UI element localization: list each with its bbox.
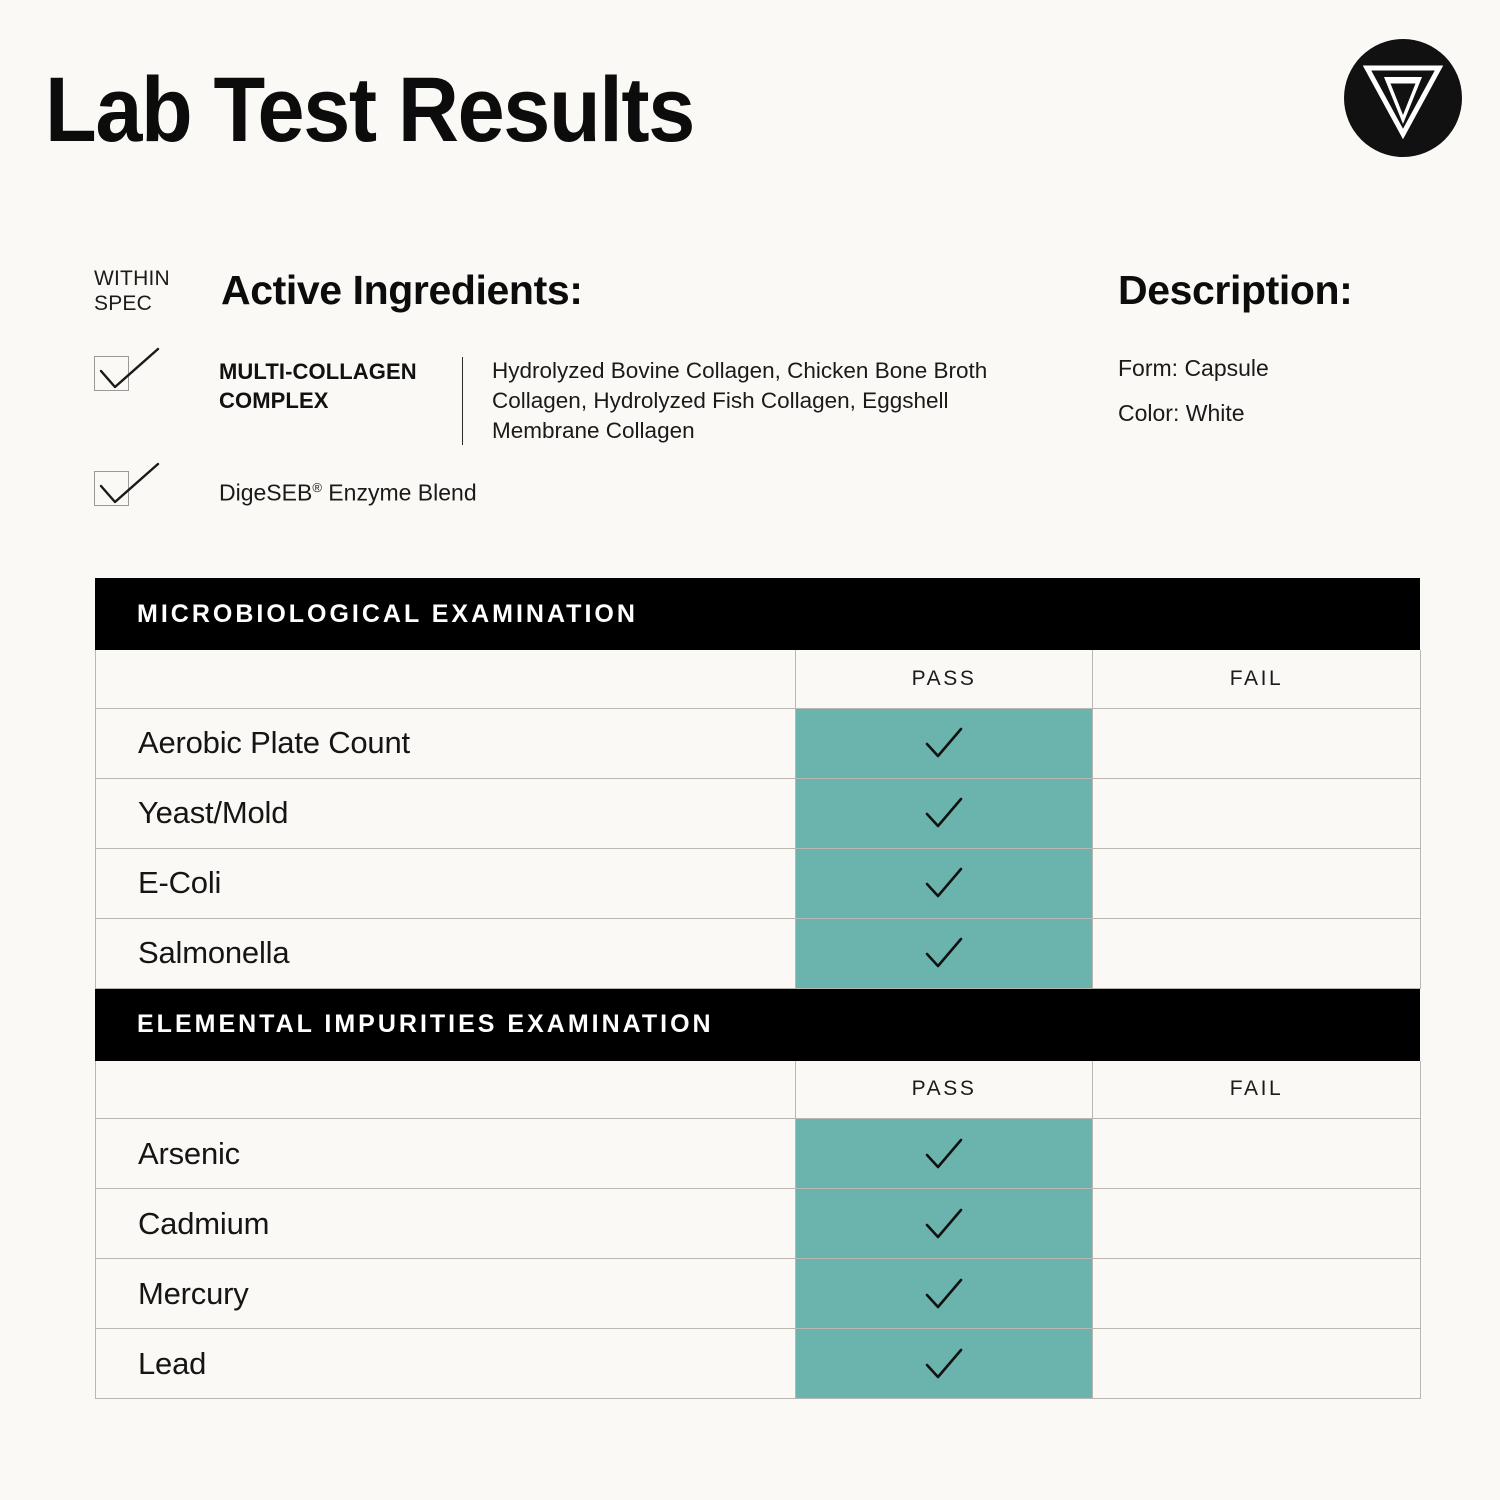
row-label: Yeast/Mold xyxy=(96,778,796,848)
header-cell-fail: FAIL xyxy=(1093,650,1421,708)
table-header-row: PASS FAIL xyxy=(96,1061,1421,1119)
result-pass-cell[interactable] xyxy=(796,708,1093,778)
result-fail-cell[interactable] xyxy=(1093,708,1421,778)
header-cell-name xyxy=(96,1061,796,1119)
active-ingredients-heading: Active Ingredients: xyxy=(221,266,582,314)
ingredient-divider xyxy=(462,357,463,445)
registered-mark-icon: ® xyxy=(312,480,322,495)
table-microbiological-examination: PASS FAIL Aerobic Plate Count Yeast/Mold xyxy=(95,650,1421,989)
table-row[interactable]: Arsenic xyxy=(96,1119,1421,1189)
band-microbiological-examination: MICROBIOLOGICAL EXAMINATION xyxy=(95,578,1420,650)
result-fail-cell[interactable] xyxy=(1093,918,1421,988)
band-label-microbiological: MICROBIOLOGICAL EXAMINATION xyxy=(137,600,638,629)
result-pass-cell[interactable] xyxy=(796,1119,1093,1189)
check-icon xyxy=(922,865,966,901)
check-icon xyxy=(922,1206,966,1242)
description-form: Form: Capsule xyxy=(1118,353,1269,383)
page-title: Lab Test Results xyxy=(45,64,694,156)
result-fail-cell[interactable] xyxy=(1093,778,1421,848)
table-row[interactable]: Salmonella xyxy=(96,918,1421,988)
band-elemental-impurities-examination: ELEMENTAL IMPURITIES EXAMINATION xyxy=(95,989,1420,1061)
within-spec-line-2: SPEC xyxy=(94,291,204,316)
row-label: Aerobic Plate Count xyxy=(96,708,796,778)
description-heading: Description: xyxy=(1118,266,1352,314)
lab-results-tables: MICROBIOLOGICAL EXAMINATION PASS FAIL Ae… xyxy=(95,578,1420,1399)
row-label: Lead xyxy=(96,1329,796,1399)
result-fail-cell[interactable] xyxy=(1093,1119,1421,1189)
result-pass-cell[interactable] xyxy=(796,1259,1093,1329)
checkbox-multi-collagen[interactable] xyxy=(94,356,129,391)
description-color: Color: White xyxy=(1118,398,1245,428)
table-row[interactable]: Yeast/Mold xyxy=(96,778,1421,848)
check-icon xyxy=(922,1346,966,1382)
result-fail-cell[interactable] xyxy=(1093,1189,1421,1259)
table-row[interactable]: Mercury xyxy=(96,1259,1421,1329)
row-label: Mercury xyxy=(96,1259,796,1329)
check-icon xyxy=(922,1136,966,1172)
result-fail-cell[interactable] xyxy=(1093,1329,1421,1399)
header-cell-pass: PASS xyxy=(796,1061,1093,1119)
band-label-elemental-impurities: ELEMENTAL IMPURITIES EXAMINATION xyxy=(137,1010,714,1039)
row-label: E-Coli xyxy=(96,848,796,918)
ingredient-name-multi-collagen: MULTI-COLLAGEN COMPLEX xyxy=(219,357,454,415)
table-elemental-impurities-examination: PASS FAIL Arsenic Cadmium xyxy=(95,1061,1421,1400)
header-cell-name xyxy=(96,650,796,708)
check-icon xyxy=(922,725,966,761)
brand-triangle-logo-icon xyxy=(1343,38,1463,158)
result-pass-cell[interactable] xyxy=(796,1189,1093,1259)
result-pass-cell[interactable] xyxy=(796,848,1093,918)
ingredient-name-digeseb: DigeSEB® Enzyme Blend xyxy=(219,473,477,508)
ingredient-digeseb-suffix: Enzyme Blend xyxy=(322,480,477,506)
within-spec-label: WITHIN SPEC xyxy=(94,266,204,316)
table-row[interactable]: Lead xyxy=(96,1329,1421,1399)
check-icon xyxy=(922,1276,966,1312)
header-cell-pass: PASS xyxy=(796,650,1093,708)
table-row[interactable]: E-Coli xyxy=(96,848,1421,918)
result-pass-cell[interactable] xyxy=(796,918,1093,988)
result-fail-cell[interactable] xyxy=(1093,848,1421,918)
ingredient-digeseb-prefix: DigeSEB xyxy=(219,480,312,506)
ingredient-detail-multi-collagen: Hydrolyzed Bovine Collagen, Chicken Bone… xyxy=(492,356,1057,446)
table-row[interactable]: Cadmium xyxy=(96,1189,1421,1259)
lab-test-results-page: Lab Test Results WITHIN SPEC Active Ingr… xyxy=(0,0,1500,1500)
check-icon xyxy=(922,935,966,971)
table-header-row: PASS FAIL xyxy=(96,650,1421,708)
row-label: Arsenic xyxy=(96,1119,796,1189)
brand-logo xyxy=(1343,38,1463,158)
within-spec-line-1: WITHIN xyxy=(94,266,204,291)
checkbox-digeseb[interactable] xyxy=(94,471,129,506)
result-pass-cell[interactable] xyxy=(796,1329,1093,1399)
result-pass-cell[interactable] xyxy=(796,778,1093,848)
check-icon xyxy=(922,795,966,831)
row-label: Salmonella xyxy=(96,918,796,988)
header-cell-fail: FAIL xyxy=(1093,1061,1421,1119)
result-fail-cell[interactable] xyxy=(1093,1259,1421,1329)
row-label: Cadmium xyxy=(96,1189,796,1259)
table-row[interactable]: Aerobic Plate Count xyxy=(96,708,1421,778)
